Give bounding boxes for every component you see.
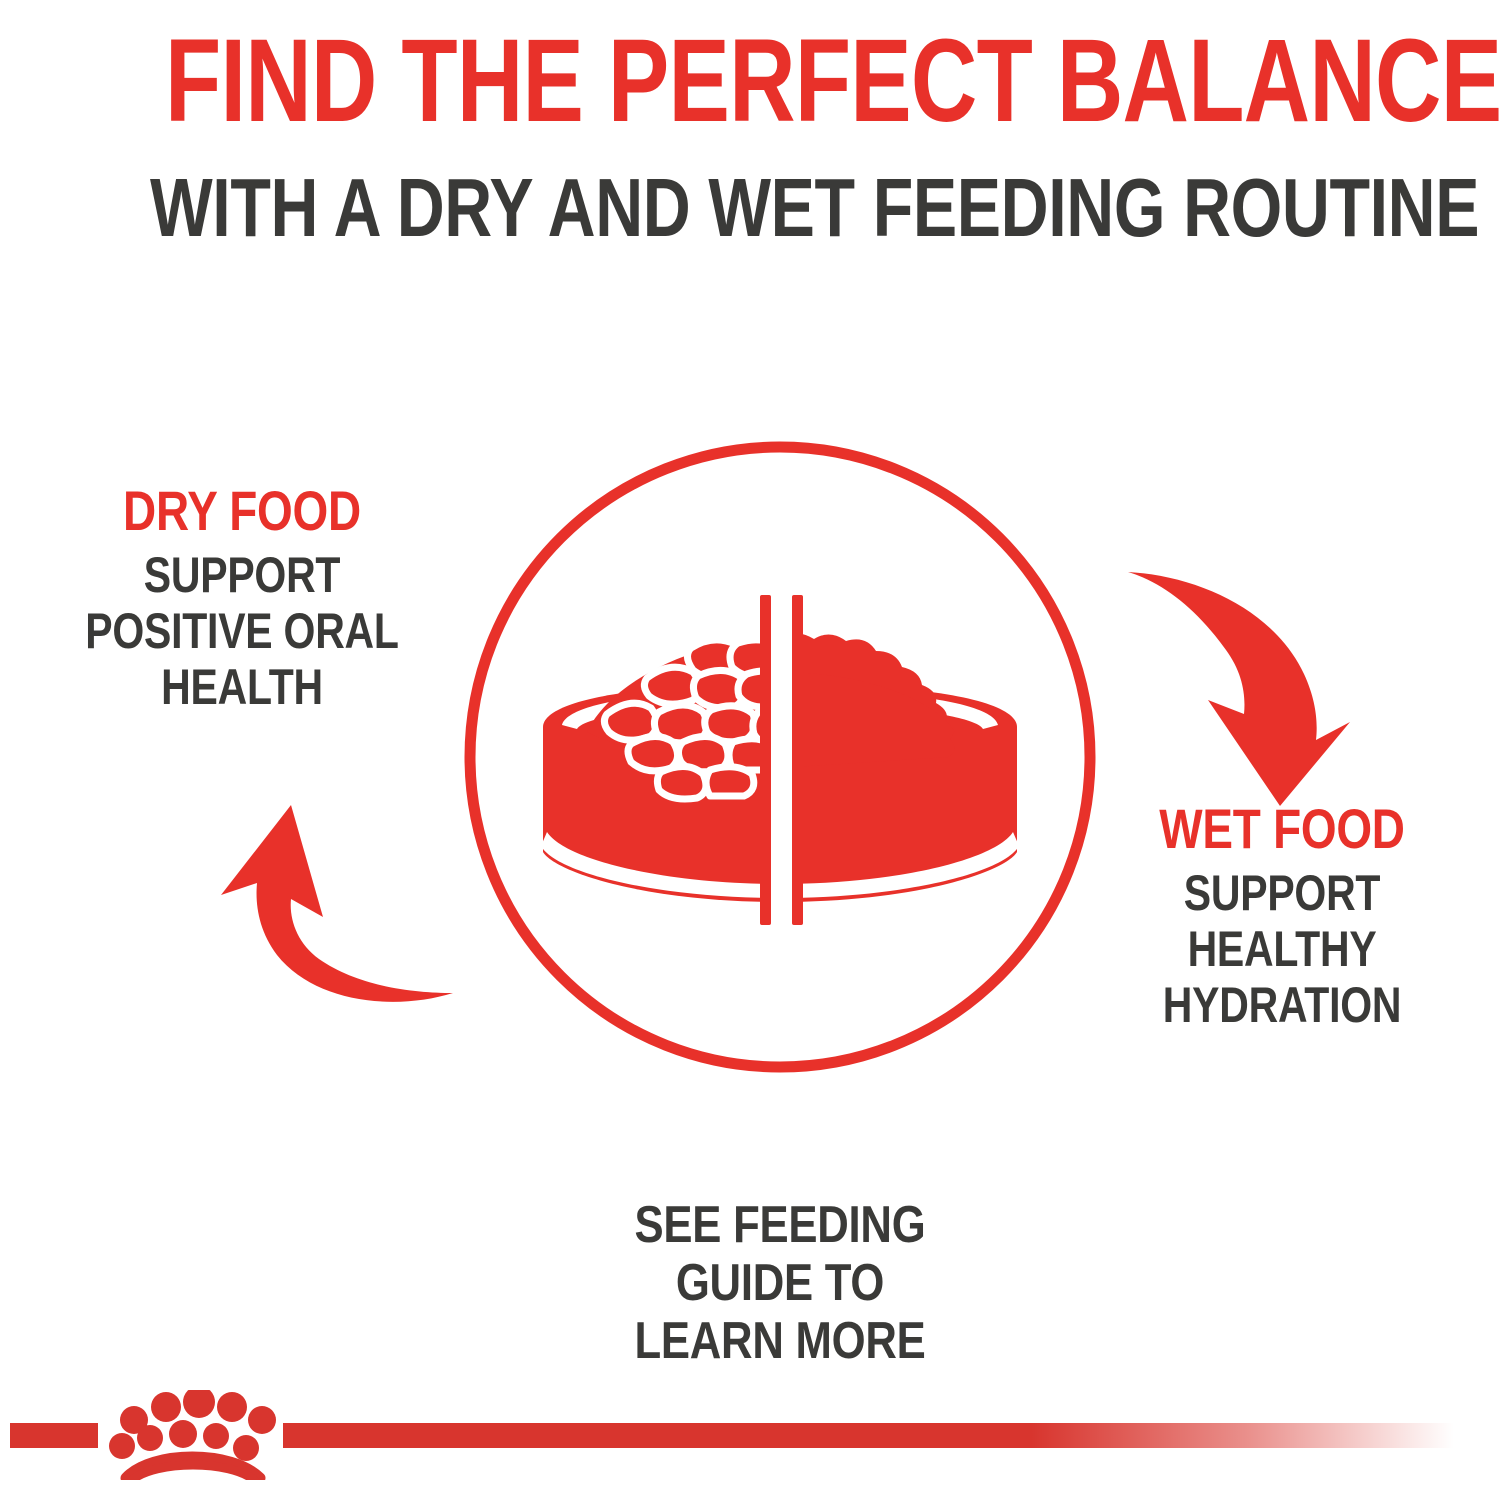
dry-food-title: DRY FOOD xyxy=(78,482,406,541)
dry-food-desc-line-2: POSITIVE ORAL xyxy=(78,603,406,659)
dry-food-desc-line-3: HEALTH xyxy=(78,659,406,715)
curved-arrow-up-left-icon xyxy=(195,795,455,1040)
bottom-caption-line-1: SEE FEEDING xyxy=(587,1196,973,1254)
headline-primary: FIND THE PERFECT BALANCE xyxy=(165,22,1335,140)
headline-secondary: WITH A DRY AND WET FEEDING ROUTINE xyxy=(150,166,1350,249)
footer-bar xyxy=(0,1390,1500,1500)
royal-canin-crown-logo xyxy=(104,1390,284,1480)
wet-food-desc-line-1: SUPPORT HEALTHY xyxy=(1110,865,1454,977)
dry-food-desc-line-1: SUPPORT xyxy=(78,547,406,603)
footer-rule-right xyxy=(283,1423,1490,1448)
poster-canvas: FIND THE PERFECT BALANCE WITH A DRY AND … xyxy=(0,0,1500,1500)
bottom-caption-line-2: GUIDE TO xyxy=(587,1254,973,1312)
dry-food-block: DRY FOOD SUPPORT POSITIVE ORAL HEALTH xyxy=(42,482,442,715)
bottom-caption-line-3: LEARN MORE xyxy=(587,1312,973,1370)
headline-block: FIND THE PERFECT BALANCE WITH A DRY AND … xyxy=(0,22,1500,249)
bottom-caption-block: SEE FEEDING GUIDE TO LEARN MORE xyxy=(550,1196,1010,1371)
curved-arrow-down-right-icon xyxy=(1118,562,1368,810)
wet-food-block: WET FOOD SUPPORT HEALTHY HYDRATION xyxy=(1072,800,1492,1033)
wet-food-desc-line-2: HYDRATION xyxy=(1110,977,1454,1033)
footer-rule-left xyxy=(10,1423,98,1448)
split-pet-food-bowl-icon xyxy=(455,432,1105,1082)
